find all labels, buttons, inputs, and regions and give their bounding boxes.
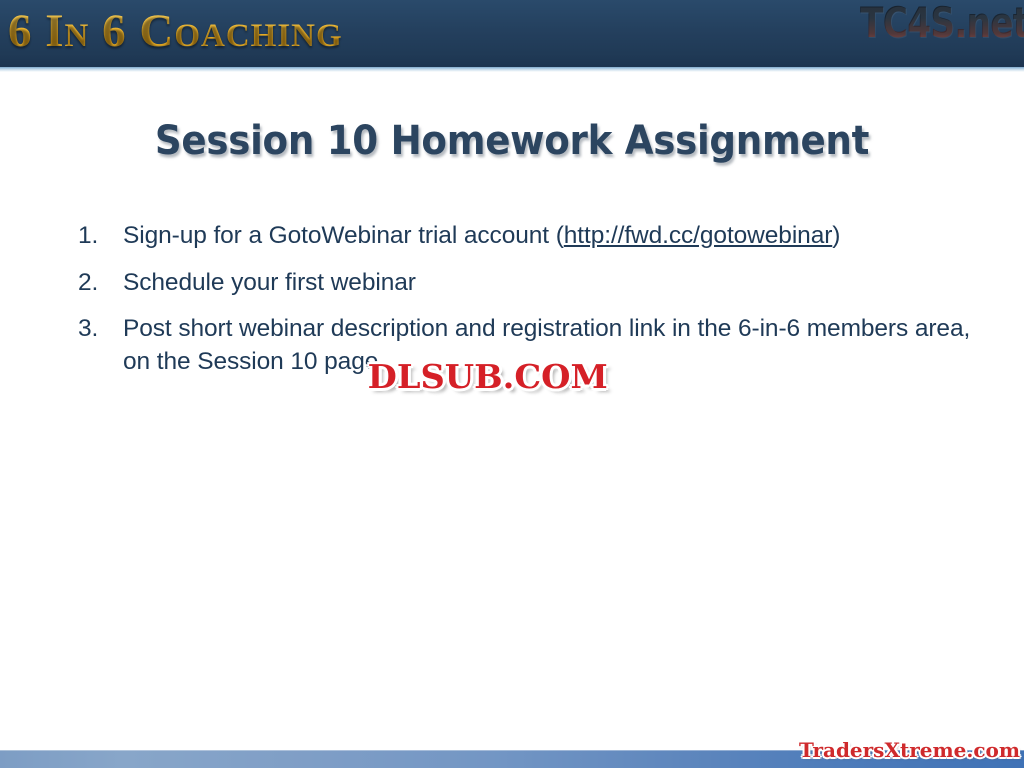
- tc4s-net-logo: TC4S.net: [860, 0, 1024, 47]
- list-item: 1. Sign-up for a GotoWebinar trial accou…: [78, 220, 978, 253]
- list-item-number: 2.: [78, 267, 123, 300]
- brand-logo-6in6-coaching: 6 In 6 Coaching: [8, 4, 343, 58]
- list-item-text: Schedule your first webinar: [123, 267, 978, 300]
- header-divider: [0, 67, 1024, 72]
- list-item-text: Sign-up for a GotoWebinar trial account …: [123, 220, 978, 253]
- page-title: Session 10 Homework Assignment: [36, 118, 988, 164]
- list-item-text-before: Sign-up for a GotoWebinar trial account …: [123, 222, 564, 249]
- slide-canvas: 6 In 6 Coaching TC4S.net Session 10 Home…: [0, 0, 1024, 768]
- dlsub-watermark: DLSUB.COM: [368, 357, 608, 396]
- list-item-number: 3.: [78, 313, 123, 346]
- header-band: 6 In 6 Coaching TC4S.net: [0, 0, 1024, 67]
- list-item-number: 1.: [78, 220, 123, 253]
- list-item: 2. Schedule your first webinar: [78, 267, 978, 300]
- list-item-text-after: ): [832, 222, 840, 249]
- gotowebinar-link[interactable]: http://fwd.cc/gotowebinar: [564, 222, 833, 249]
- tradersxtreme-footer-logo: TradersXtreme.com: [799, 738, 1020, 762]
